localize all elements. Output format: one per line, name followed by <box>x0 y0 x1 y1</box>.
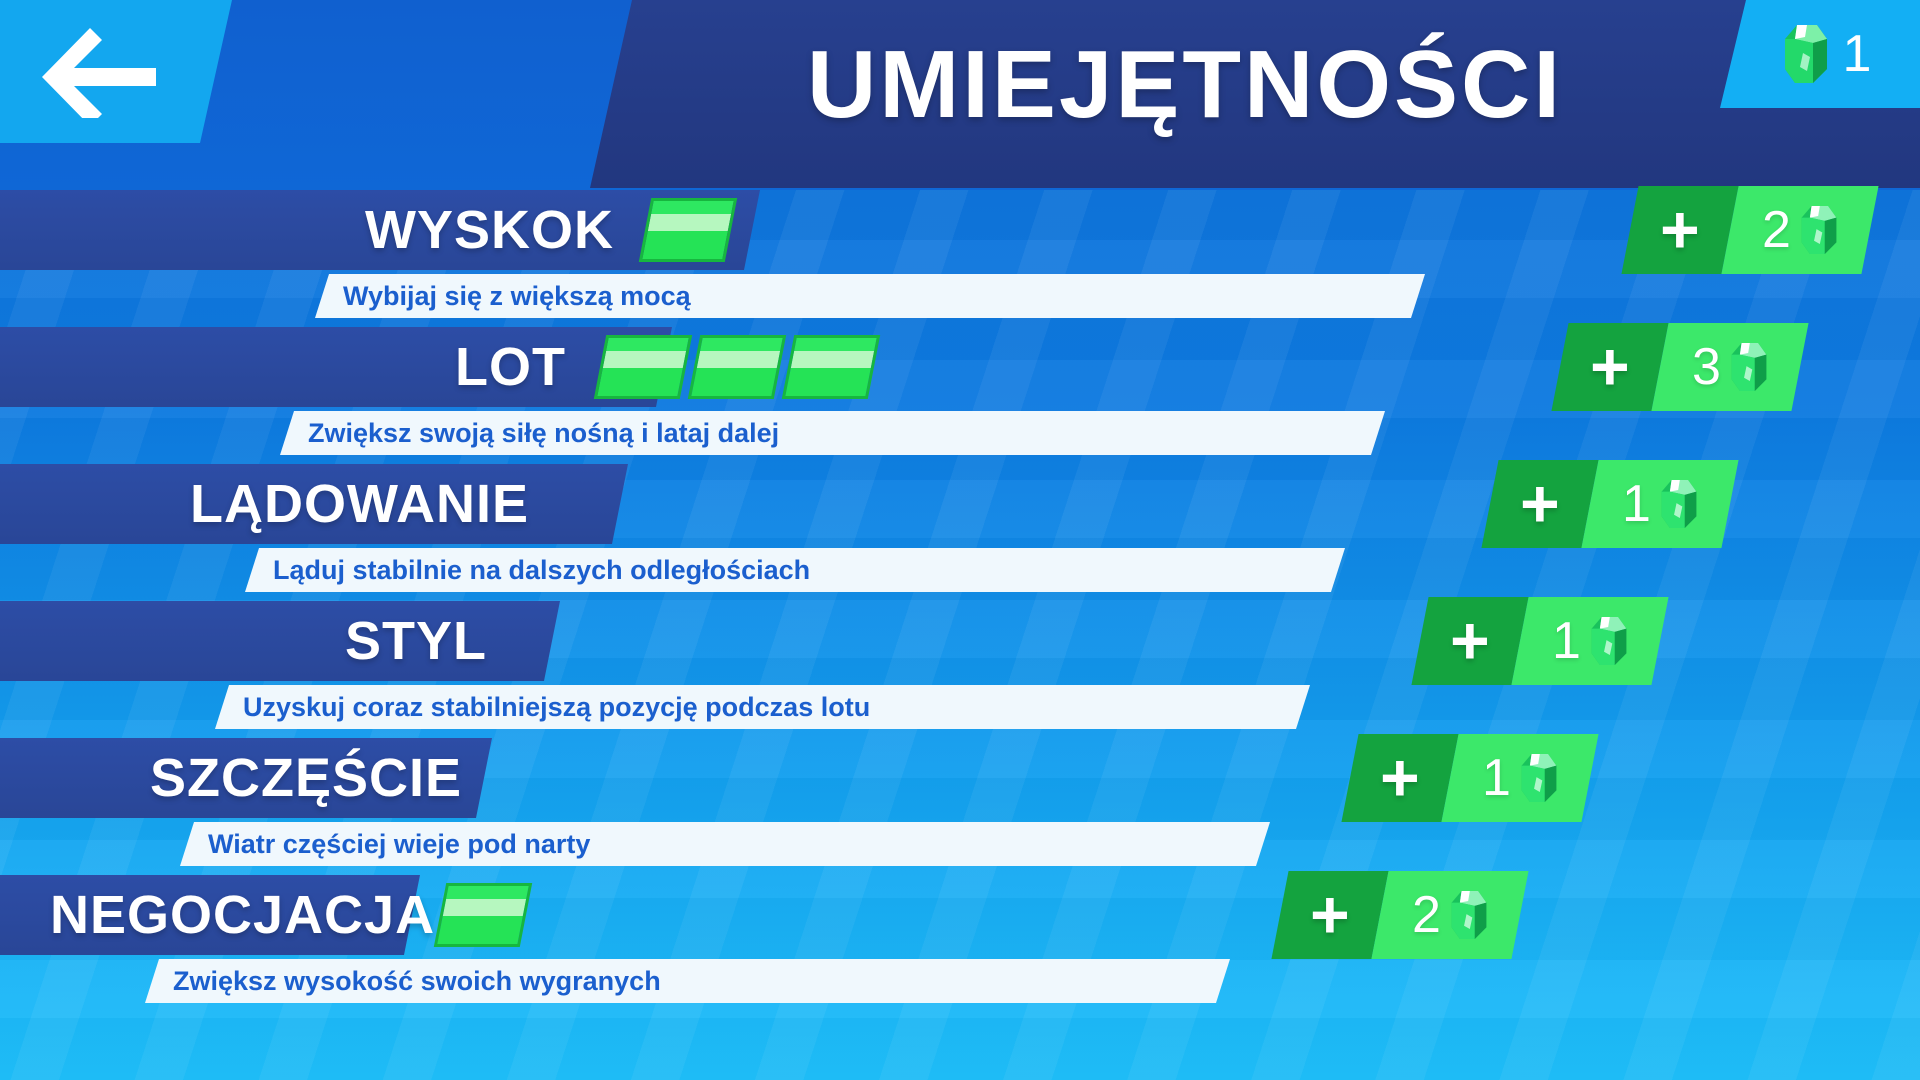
plus-label: + <box>1520 470 1560 538</box>
upgrade-cost: 1 <box>1511 597 1668 685</box>
skill-row: LOTZwiększ swoją siłę nośną i lataj dale… <box>0 327 1920 475</box>
page-title: UMIEJĘTNOŚCI <box>590 20 1780 150</box>
skill-level-pips <box>440 883 526 947</box>
skill-name: WYSKOK <box>365 190 614 270</box>
skill-description: Wybijaj się z większą mocą <box>343 274 691 318</box>
skill-upgrade-button[interactable]: +2 <box>1621 186 1878 274</box>
gem-counter: 1 <box>1720 0 1920 108</box>
skill-level-pip <box>639 198 737 262</box>
skill-level-pip <box>594 335 692 399</box>
plus-icon: + <box>1411 597 1528 685</box>
skill-list: WYSKOKWybijaj się z większą mocą+2 LOTZw… <box>0 190 1920 1080</box>
upgrade-cost-value: 2 <box>1412 889 1441 941</box>
gem-icon <box>1730 341 1768 393</box>
upgrade-cost: 1 <box>1581 460 1738 548</box>
skill-upgrade-button[interactable]: +3 <box>1551 323 1808 411</box>
skill-upgrade-button[interactable]: +1 <box>1411 597 1668 685</box>
skill-description: Wiatr częściej wieje pod narty <box>208 822 590 866</box>
gem-icon <box>1590 615 1628 667</box>
upgrade-cost-value: 2 <box>1762 204 1791 256</box>
skill-row: LĄDOWANIELąduj stabilnie na dalszych odl… <box>0 464 1920 612</box>
upgrade-cost-value: 3 <box>1692 341 1721 393</box>
skill-level-pip <box>782 335 880 399</box>
skill-level-pips <box>645 198 731 262</box>
back-arrow-icon <box>38 24 158 118</box>
skill-description: Zwiększ wysokość swoich wygranych <box>173 959 661 1003</box>
gem-icon-wrapper <box>1660 478 1698 530</box>
upgrade-cost: 3 <box>1651 323 1808 411</box>
plus-icon: + <box>1621 186 1738 274</box>
plus-label: + <box>1660 196 1700 264</box>
plus-label: + <box>1380 744 1420 812</box>
back-button[interactable] <box>0 0 232 143</box>
gem-icon-wrapper <box>1800 204 1838 256</box>
skill-row: SZCZĘŚCIEWiatr częściej wieje pod narty+… <box>0 738 1920 886</box>
skill-name: NEGOCJACJA <box>50 875 435 955</box>
skill-level-pip <box>688 335 786 399</box>
header: UMIEJĘTNOŚCI 1 <box>0 0 1920 190</box>
upgrade-cost-value: 1 <box>1552 615 1581 667</box>
skill-row: WYSKOKWybijaj się z większą mocą+2 <box>0 190 1920 338</box>
skill-name: LĄDOWANIE <box>190 464 529 544</box>
upgrade-cost-value: 1 <box>1622 478 1651 530</box>
gem-icon <box>1800 204 1838 256</box>
gem-count: 1 <box>1843 28 1872 80</box>
upgrade-cost: 1 <box>1441 734 1598 822</box>
gem-icon <box>1520 752 1558 804</box>
plus-label: + <box>1310 881 1350 949</box>
plus-label: + <box>1590 333 1630 401</box>
skill-name: SZCZĘŚCIE <box>150 738 462 818</box>
gem-icon <box>1660 478 1698 530</box>
skill-row: NEGOCJACJAZwiększ wysokość swoich wygran… <box>0 875 1920 1023</box>
skill-name-band <box>0 327 672 407</box>
gem-icon-wrapper <box>1590 615 1628 667</box>
plus-icon: + <box>1341 734 1458 822</box>
upgrade-cost: 2 <box>1371 871 1528 959</box>
plus-icon: + <box>1481 460 1598 548</box>
plus-icon: + <box>1271 871 1388 959</box>
plus-label: + <box>1450 607 1490 675</box>
skill-description: Ląduj stabilnie na dalszych odległościac… <box>273 548 810 592</box>
skill-level-pips <box>600 335 874 399</box>
upgrade-cost-value: 1 <box>1482 752 1511 804</box>
skill-description: Uzyskuj coraz stabilniejszą pozycję podc… <box>243 685 870 729</box>
gem-icon <box>1783 23 1829 85</box>
upgrade-cost: 2 <box>1721 186 1878 274</box>
skill-upgrade-button[interactable]: +1 <box>1481 460 1738 548</box>
skill-upgrade-button[interactable]: +1 <box>1341 734 1598 822</box>
skill-level-pip <box>434 883 532 947</box>
skill-description: Zwiększ swoją siłę nośną i lataj dalej <box>308 411 779 455</box>
skill-name: STYL <box>345 601 487 681</box>
plus-icon: + <box>1551 323 1668 411</box>
gem-icon-wrapper <box>1450 889 1488 941</box>
skill-row: STYLUzyskuj coraz stabilniejszą pozycję … <box>0 601 1920 749</box>
skill-upgrade-button[interactable]: +2 <box>1271 871 1528 959</box>
skill-name: LOT <box>455 327 566 407</box>
gem-icon-wrapper <box>1520 752 1558 804</box>
gem-icon <box>1450 889 1488 941</box>
gem-icon-wrapper <box>1730 341 1768 393</box>
